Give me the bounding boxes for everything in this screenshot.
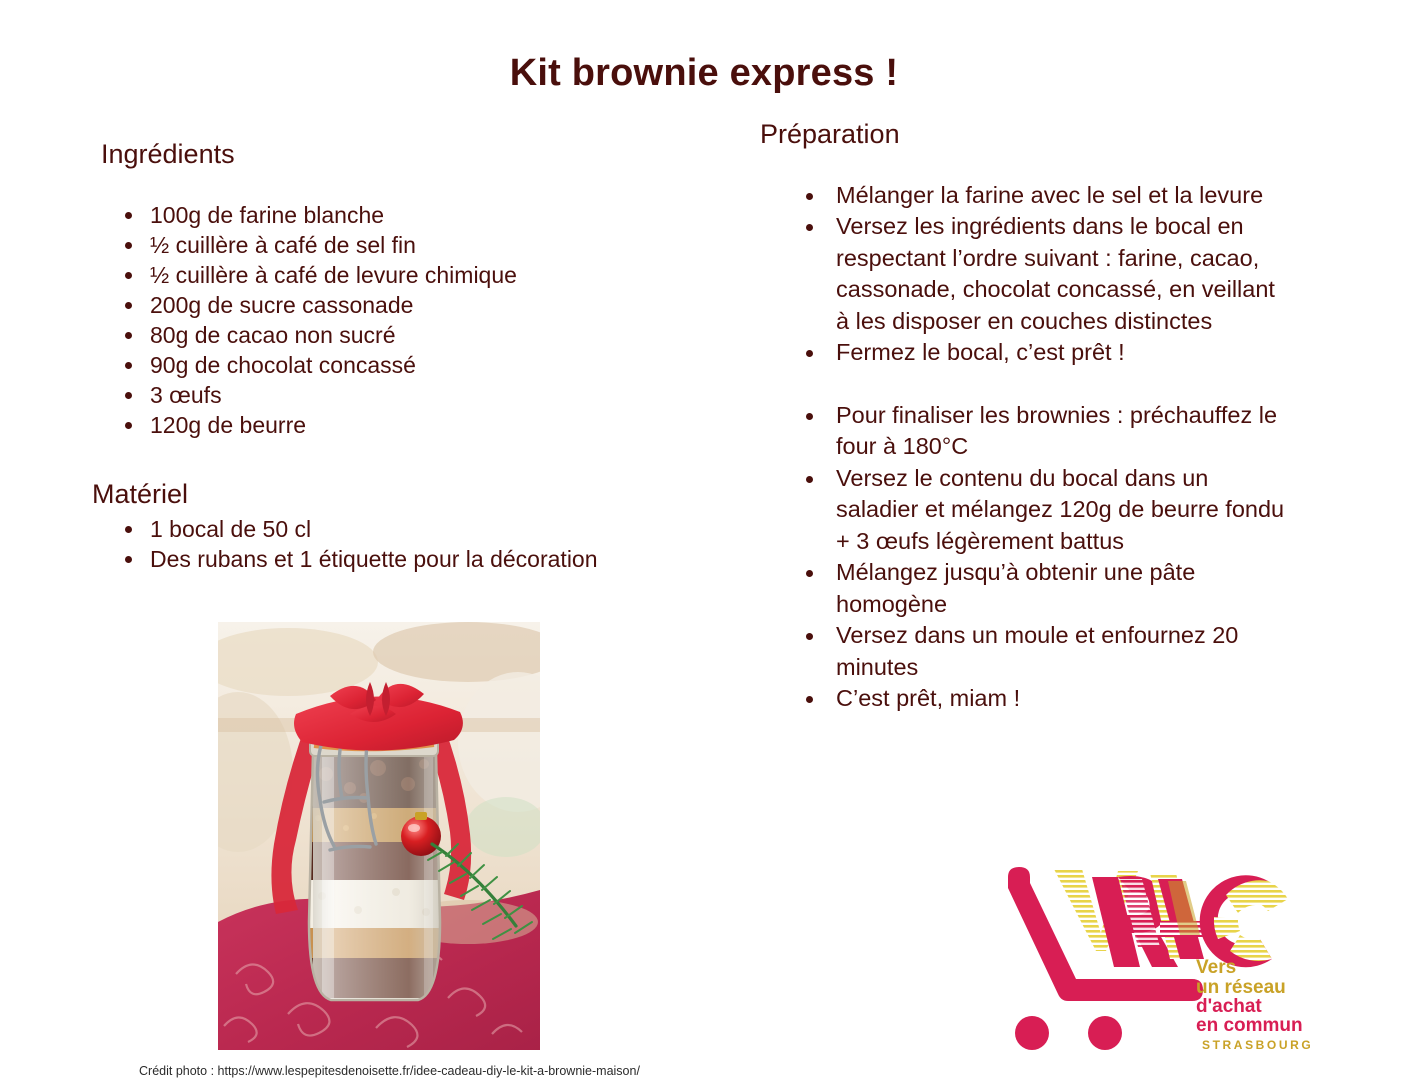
brownie-jar-photo-illustration bbox=[218, 622, 540, 1050]
list-item: Versez les ingrédients dans le bocal en … bbox=[836, 211, 1288, 337]
list-item: 100g de farine blanche bbox=[150, 200, 700, 230]
list-item: Versez dans un moule et enfournez 20 min… bbox=[836, 620, 1288, 683]
tagline-line-3: d'achat bbox=[1196, 996, 1262, 1017]
materiel-heading: Matériel bbox=[92, 480, 700, 510]
vrac-logo-graphic: Vers un réseau d'achat en commun STRASBO… bbox=[1000, 855, 1310, 1055]
ingredients-section: Ingrédients 100g de farine blanche ½ cui… bbox=[0, 140, 700, 440]
left-column: Ingrédients 100g de farine blanche ½ cui… bbox=[0, 140, 700, 574]
list-item: Des rubans et 1 étiquette pour la décora… bbox=[150, 544, 700, 574]
list-item: Versez le contenu du bocal dans un salad… bbox=[836, 463, 1288, 558]
ingredients-heading: Ingrédients bbox=[101, 140, 700, 170]
list-item: 120g de beurre bbox=[150, 410, 700, 440]
list-item: Mélangez jusqu’à obtenir une pâte homogè… bbox=[836, 557, 1288, 620]
list-item: 200g de sucre cassonade bbox=[150, 290, 700, 320]
tagline-city: STRASBOURG bbox=[1202, 1038, 1310, 1052]
recipe-photo bbox=[218, 622, 540, 1050]
list-item: 1 bocal de 50 cl bbox=[150, 514, 700, 544]
list-item: Fermez le bocal, c’est prêt ! bbox=[836, 337, 1288, 369]
list-item: C’est prêt, miam ! bbox=[836, 683, 1288, 715]
photo-credit: Crédit photo : https://www.lespepitesden… bbox=[139, 1064, 640, 1078]
list-item: ½ cuillère à café de sel fin bbox=[150, 230, 700, 260]
ingredients-list: 100g de farine blanche ½ cuillère à café… bbox=[150, 200, 700, 440]
materiel-list: 1 bocal de 50 cl Des rubans et 1 étiquet… bbox=[150, 514, 700, 574]
list-item: 90g de chocolat concassé bbox=[150, 350, 700, 380]
tagline-line-1: Vers bbox=[1196, 957, 1236, 978]
page-title: Kit brownie express ! bbox=[0, 52, 1408, 95]
preparation-heading: Préparation bbox=[760, 120, 1312, 150]
tagline-line-4: en commun bbox=[1196, 1015, 1303, 1036]
right-column: Préparation Mélanger la farine avec le s… bbox=[752, 120, 1312, 715]
list-item: Mélanger la farine avec le sel et la lev… bbox=[836, 180, 1288, 212]
logo-letter-c bbox=[1200, 875, 1288, 967]
preparation-list: Mélanger la farine avec le sel et la lev… bbox=[836, 180, 1312, 715]
vrac-logo: Vers un réseau d'achat en commun STRASBO… bbox=[1000, 855, 1310, 1055]
materiel-section: Matériel 1 bocal de 50 cl Des rubans et … bbox=[0, 480, 700, 575]
list-item: Pour finaliser les brownies : préchauffe… bbox=[836, 400, 1288, 463]
list-item: 3 œufs bbox=[150, 380, 700, 410]
tagline-line-2: un réseau bbox=[1196, 977, 1286, 998]
logo-tagline: Vers un réseau d'achat en commun STRASBO… bbox=[1196, 957, 1310, 1052]
list-item: ½ cuillère à café de levure chimique bbox=[150, 260, 700, 290]
list-item: 80g de cacao non sucré bbox=[150, 320, 700, 350]
